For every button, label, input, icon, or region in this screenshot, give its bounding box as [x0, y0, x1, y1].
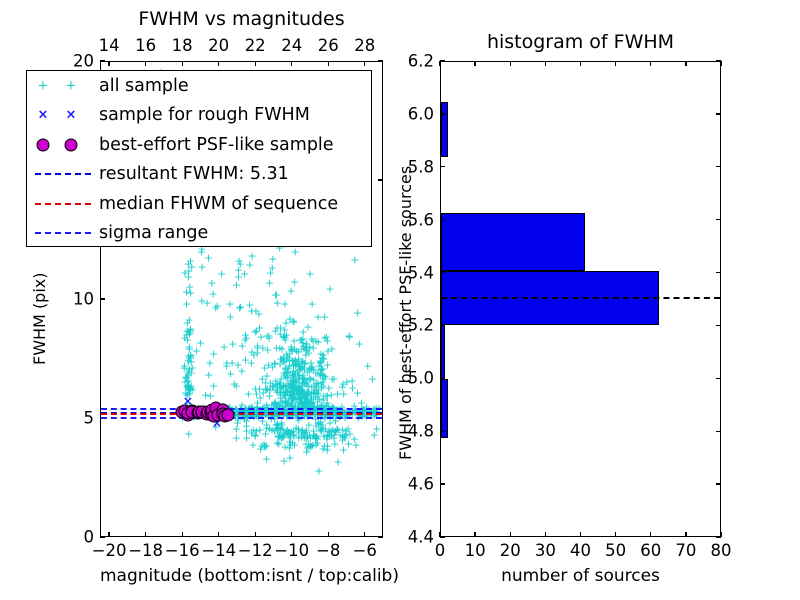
right-ytick-label: 6.2: [390, 52, 434, 71]
tick-mark: [545, 532, 546, 537]
scatter-point-all-sample: +: [240, 334, 249, 345]
circle-icon: [65, 138, 78, 151]
scatter-point-all-sample: +: [263, 383, 272, 394]
tick-mark: [580, 61, 581, 66]
histogram-bar: [441, 102, 448, 158]
tick-mark: [100, 298, 105, 299]
scatter-point-all-sample: +: [282, 318, 291, 329]
tick-mark: [328, 532, 329, 537]
left-xtick-label-bottom: −6: [353, 541, 377, 560]
scatter-point-all-sample: +: [245, 260, 254, 271]
right-xtick-label: 40: [570, 541, 591, 560]
tick-mark: [685, 61, 686, 66]
left-xtick-label-bottom: −12: [238, 541, 273, 560]
left-xtick-label-top: 18: [172, 36, 193, 55]
scatter-point-all-sample: +: [350, 434, 359, 445]
scatter-point-all-sample: +: [309, 387, 318, 398]
scatter-point-all-sample: +: [285, 442, 294, 453]
left-ytick-label: 20: [56, 52, 94, 71]
scatter-point-all-sample: +: [287, 343, 296, 354]
tick-mark: [474, 532, 475, 537]
scatter-point-all-sample: +: [308, 299, 317, 310]
sigma-upper-line: [101, 408, 382, 410]
tick-mark: [440, 431, 445, 432]
left-xtick-label-bottom: −8: [316, 541, 340, 560]
tick-mark: [145, 61, 146, 66]
tick-mark: [685, 532, 686, 537]
scatter-point-all-sample: +: [226, 311, 235, 322]
scatter-point-all-sample: +: [274, 438, 283, 449]
scatter-point-all-sample: +: [301, 344, 310, 355]
tick-mark: [218, 61, 219, 66]
legend-entry: ××sample for rough FWHM: [27, 101, 371, 131]
circle-icon: [37, 138, 50, 151]
scatter-point-all-sample: +: [303, 322, 312, 333]
scatter-point-all-sample: +: [276, 383, 285, 394]
dashed-line-icon: [35, 173, 91, 175]
legend-entry: sigma range: [27, 219, 371, 249]
scatter-point-all-sample: +: [284, 430, 293, 441]
tick-mark: [364, 532, 365, 537]
left-xtick-label-bottom: −16: [165, 541, 200, 560]
tick-mark: [716, 325, 721, 326]
scatter-point-all-sample: +: [281, 362, 290, 373]
right-xtick-label: 50: [605, 541, 626, 560]
tick-mark: [378, 60, 383, 61]
scatter-point-all-sample: +: [330, 439, 339, 450]
scatter-point-all-sample: +: [185, 314, 194, 325]
scatter-point-all-sample: +: [217, 268, 226, 279]
histogram-bar: [441, 325, 445, 379]
tick-mark: [291, 61, 292, 66]
scatter-point-all-sample: +: [280, 456, 289, 467]
right-ytick-label: 4.4: [390, 528, 434, 547]
scatter-point-all-sample: +: [251, 305, 260, 316]
scatter-point-all-sample: +: [260, 363, 269, 374]
scatter-point-all-sample: +: [303, 442, 312, 453]
scatter-point-all-sample: +: [180, 377, 189, 388]
tick-mark: [716, 431, 721, 432]
left-xtick-label-top: 20: [208, 36, 229, 55]
scatter-point-all-sample: +: [186, 327, 195, 338]
tick-mark: [100, 536, 105, 537]
tick-mark: [474, 61, 475, 66]
tick-mark: [716, 113, 721, 114]
tick-mark: [615, 61, 616, 66]
legend-label: median FHWM of sequence: [99, 194, 338, 214]
dashed-line-icon: [35, 203, 91, 205]
scatter-point-all-sample: +: [260, 441, 269, 452]
left-ytick-label: 0: [56, 528, 94, 547]
legend-entry: best-effort PSF-like sample: [27, 130, 371, 160]
legend-label: all sample: [99, 76, 189, 96]
right-plot-xlabel: number of sources: [440, 566, 721, 586]
tick-mark: [510, 61, 511, 66]
scatter-point-all-sample: +: [266, 268, 275, 279]
tick-mark: [716, 166, 721, 167]
legend-marker: [27, 219, 99, 249]
scatter-point-all-sample: +: [297, 384, 306, 395]
tick-mark: [650, 61, 651, 66]
scatter-point-all-sample: +: [197, 262, 206, 273]
tick-mark: [716, 536, 721, 537]
scatter-point-all-sample: +: [256, 332, 265, 343]
scatter-point-all-sample: +: [338, 378, 347, 389]
tick-mark: [716, 60, 721, 61]
legend-entry: resultant FWHM: 5.31: [27, 160, 371, 190]
tick-mark: [440, 536, 445, 537]
right-xtick-label: 30: [535, 541, 556, 560]
scatter-point-all-sample: +: [197, 296, 206, 307]
scatter-point-all-sample: +: [350, 400, 359, 411]
scatter-point-all-sample: +: [291, 357, 300, 368]
tick-mark: [378, 298, 383, 299]
scatter-point-all-sample: +: [228, 338, 237, 349]
scatter-point-all-sample: +: [182, 299, 191, 310]
left-plot-xlabel: magnitude (bottom:isnt / top:calib): [100, 566, 383, 586]
right-xtick-label: 0: [435, 541, 446, 560]
tick-mark: [716, 483, 721, 484]
scatter-point-all-sample: +: [225, 299, 234, 310]
scatter-point-all-sample: +: [314, 312, 323, 323]
tick-mark: [291, 532, 292, 537]
tick-mark: [716, 272, 721, 273]
tick-mark: [182, 61, 183, 66]
left-plot-title: FWHM vs magnitudes: [100, 8, 383, 30]
tick-mark: [440, 60, 445, 61]
left-xtick-label-top: 26: [318, 36, 339, 55]
scatter-point-all-sample: +: [209, 349, 218, 360]
tick-mark: [182, 532, 183, 537]
scatter-point-all-sample: +: [234, 265, 243, 276]
histogram-bar: [441, 213, 585, 271]
tick-mark: [100, 60, 105, 61]
scatter-point-all-sample: +: [363, 360, 372, 371]
scatter-point-all-sample: +: [263, 344, 272, 355]
right-ytick-label: 4.6: [390, 475, 434, 494]
right-xtick-label: 70: [675, 541, 696, 560]
tick-mark: [145, 532, 146, 537]
scatter-point-all-sample: +: [326, 425, 335, 436]
scatter-point-all-sample: +: [333, 457, 342, 468]
scatter-point-all-sample: +: [272, 290, 281, 301]
sigma-lower-line: [101, 417, 382, 419]
scatter-point-all-sample: +: [350, 254, 359, 265]
legend-marker: [27, 160, 99, 190]
scatter-point-all-sample: +: [251, 384, 260, 395]
scatter-point-all-sample: +: [274, 422, 283, 433]
legend-label: sample for rough FWHM: [99, 105, 310, 125]
left-xtick-label-top: 16: [135, 36, 156, 55]
tick-mark: [440, 483, 445, 484]
scatter-point-all-sample: +: [187, 262, 196, 273]
tick-mark: [615, 532, 616, 537]
left-xtick-label-top: 28: [354, 36, 375, 55]
tick-mark: [378, 536, 383, 537]
cross-icon: ×: [38, 109, 49, 122]
tick-mark: [440, 325, 445, 326]
scatter-point-all-sample: +: [188, 362, 197, 373]
right-xtick-label: 20: [500, 541, 521, 560]
scatter-point-all-sample: +: [182, 286, 191, 297]
scatter-point-all-sample: +: [348, 383, 357, 394]
scatter-point-all-sample: +: [232, 423, 241, 434]
tick-mark: [218, 532, 219, 537]
legend-marker: ××: [27, 101, 99, 131]
scatter-point-all-sample: +: [209, 380, 218, 391]
scatter-point-all-sample: +: [208, 288, 217, 299]
legend-marker: [27, 130, 99, 160]
scatter-point-all-sample: +: [370, 429, 379, 440]
scatter-point-all-sample: +: [184, 428, 193, 439]
scatter-point-all-sample: +: [220, 341, 229, 352]
scatter-point-all-sample: +: [314, 466, 323, 477]
right-plot-title: histogram of FWHM: [440, 31, 721, 53]
tick-mark: [720, 61, 721, 66]
scatter-point-all-sample: +: [323, 345, 332, 356]
left-xtick-label-top: 14: [99, 36, 120, 55]
scatter-point-all-sample: +: [247, 357, 256, 368]
scatter-point-all-sample: +: [368, 373, 377, 384]
scatter-point-all-sample: +: [232, 279, 241, 290]
scatter-point-all-sample: +: [325, 284, 334, 295]
scatter-point-all-sample: +: [226, 369, 235, 380]
right-xtick-label: 10: [465, 541, 486, 560]
median-fwhm-line: [101, 413, 382, 415]
legend-marker: ++: [27, 71, 99, 101]
scatter-point-all-sample: +: [236, 301, 245, 312]
tick-mark: [108, 61, 109, 66]
scatter-point-all-sample: +: [264, 330, 273, 341]
left-ytick-label: 10: [56, 290, 94, 309]
scatter-point-all-sample: +: [353, 307, 362, 318]
scatter-point-all-sample: +: [314, 336, 323, 347]
tick-mark: [580, 532, 581, 537]
scatter-point-all-sample: +: [316, 365, 325, 376]
scatter-point-all-sample: +: [318, 443, 327, 454]
tick-mark: [716, 219, 721, 220]
left-ytick-label: 5: [56, 409, 94, 428]
left-xtick-label-bottom: −20: [92, 541, 127, 560]
tick-mark: [378, 179, 383, 180]
tick-mark: [255, 532, 256, 537]
right-plot-data-area: [441, 62, 720, 536]
scatter-point-all-sample: +: [305, 268, 314, 279]
tick-mark: [650, 532, 651, 537]
tick-mark: [545, 61, 546, 66]
tick-mark: [328, 61, 329, 66]
legend-label: best-effort PSF-like sample: [99, 135, 334, 155]
tick-mark: [108, 532, 109, 537]
scatter-point-all-sample: +: [345, 331, 354, 342]
left-plot-ylabel: FWHM (pix): [30, 273, 49, 366]
scatter-point-psf-like: [222, 409, 235, 422]
plus-icon: +: [38, 79, 49, 92]
left-xtick-label-top: 22: [245, 36, 266, 55]
tick-mark: [440, 378, 445, 379]
scatter-point-all-sample: +: [196, 337, 205, 348]
tick-mark: [440, 166, 445, 167]
right-plot-ylabel: FWHM of best-effort PSF-like sources: [396, 166, 415, 460]
right-xtick-label: 80: [711, 541, 732, 560]
scatter-point-all-sample: +: [237, 365, 246, 376]
scatter-point-all-sample: +: [355, 339, 364, 350]
legend-entry: ++all sample: [27, 71, 371, 101]
left-xtick-label-top: 24: [281, 36, 302, 55]
scatter-point-all-sample: +: [291, 247, 300, 258]
right-xtick-label: 60: [640, 541, 661, 560]
scatter-point-all-sample: +: [328, 374, 337, 385]
left-xtick-label-bottom: −10: [274, 541, 309, 560]
scatter-point-all-sample: +: [248, 425, 257, 436]
scatter-point-all-sample: +: [287, 285, 296, 296]
legend-label: sigma range: [99, 223, 208, 243]
scatter-point-all-sample: +: [288, 388, 297, 399]
figure-canvas: FWHM vs magnitudes +++++++++++++++++++++…: [0, 0, 800, 600]
scatter-point-all-sample: +: [282, 329, 291, 340]
scatter-point-all-sample: +: [213, 300, 222, 311]
scatter-point-all-sample: +: [322, 401, 331, 412]
tick-mark: [440, 113, 445, 114]
scatter-point-all-sample: +: [327, 390, 336, 401]
tick-mark: [440, 272, 445, 273]
tick-mark: [716, 378, 721, 379]
dashdot-line-icon: [35, 232, 91, 234]
right-ytick-label: 6.0: [390, 104, 434, 123]
resultant-fwhm-line: [441, 297, 720, 299]
tick-mark: [439, 61, 440, 66]
tick-mark: [510, 532, 511, 537]
histogram-bar: [441, 379, 448, 437]
cross-icon: ×: [66, 109, 77, 122]
tick-mark: [440, 219, 445, 220]
legend-entry: median FHWM of sequence: [27, 189, 371, 219]
scatter-point-all-sample: +: [232, 381, 241, 392]
plus-icon: +: [66, 79, 77, 92]
scatter-point-all-sample: +: [268, 253, 277, 264]
legend-marker: [27, 189, 99, 219]
left-xtick-label-bottom: −14: [201, 541, 236, 560]
left-xtick-label-bottom: −18: [128, 541, 163, 560]
legend: ++all sample××sample for rough FWHMbest-…: [26, 70, 372, 247]
scatter-point-all-sample: +: [301, 427, 310, 438]
tick-mark: [364, 61, 365, 66]
scatter-point-all-sample: +: [280, 298, 289, 309]
legend-label: resultant FWHM: 5.31: [99, 164, 289, 184]
right-plot-axes: [440, 61, 721, 537]
scatter-point-all-sample: +: [340, 432, 349, 443]
tick-mark: [255, 61, 256, 66]
